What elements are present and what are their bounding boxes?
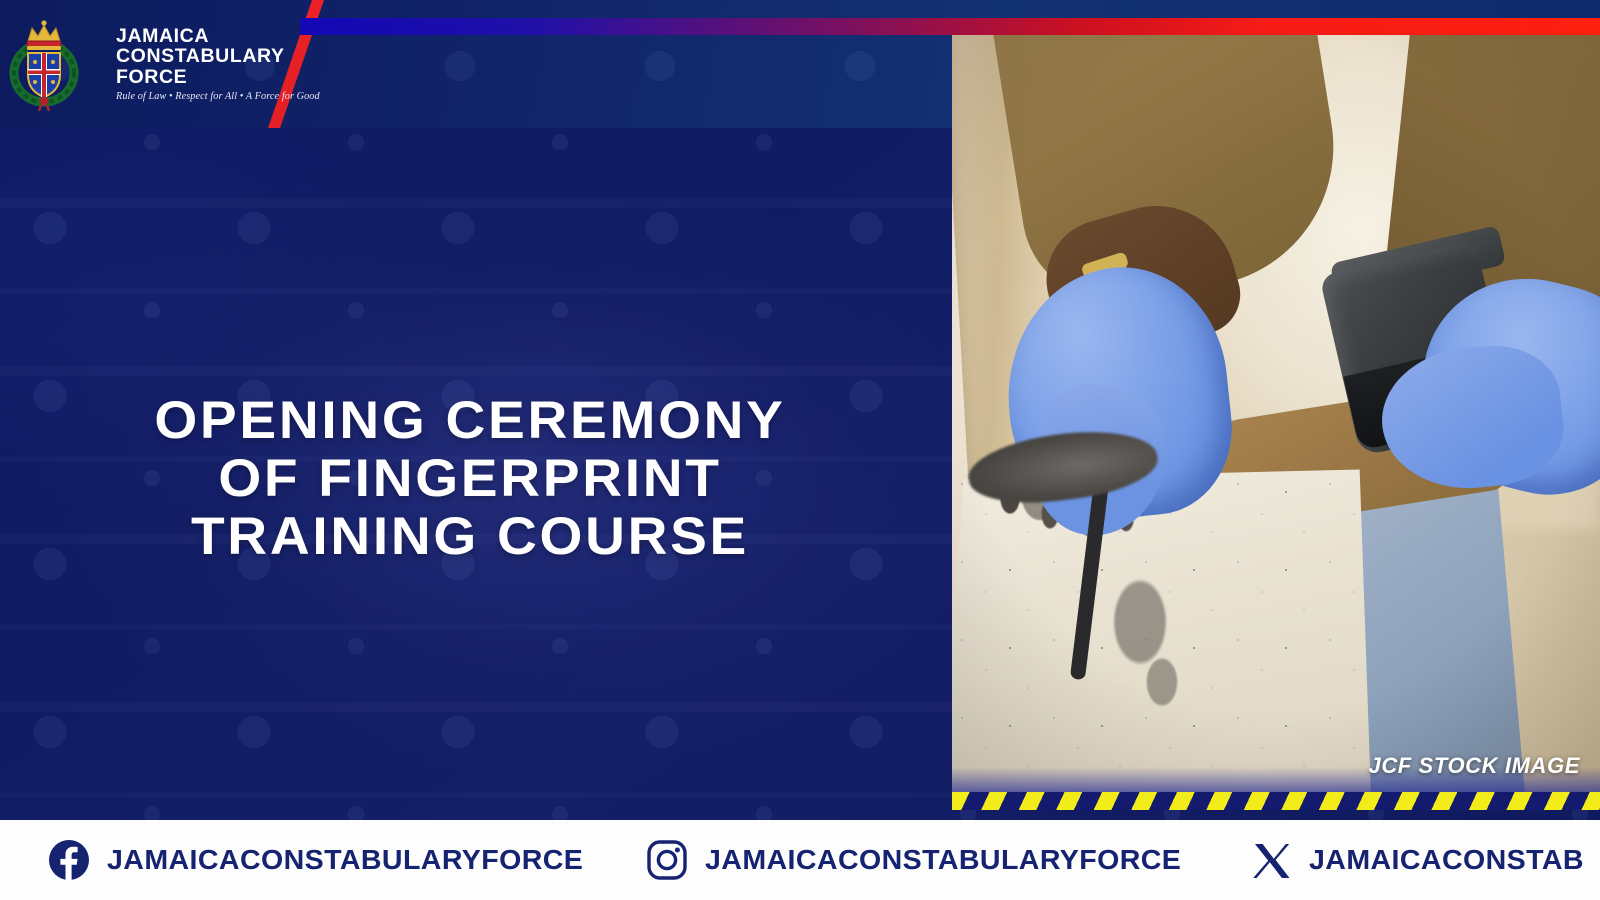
title-line-2: OF FINGERPRINT (0, 450, 959, 508)
logo-text-block: JAMAICA CONSTABULARY FORCE Rule of Law •… (106, 26, 320, 103)
social-footer: JAMAICACONSTABULARYFORCE JAMAICACONSTABU… (0, 820, 1600, 900)
top-gradient-rule (300, 18, 1600, 35)
facebook-handle[interactable]: JAMAICACONSTABULARYFORCE (107, 844, 583, 876)
org-name-line-3: FORCE (116, 67, 320, 88)
caution-tape-strip (952, 792, 1600, 810)
org-name-line-1: JAMAICA (116, 26, 320, 47)
page-title: OPENING CEREMONY OF FINGERPRINT TRAINING… (0, 392, 940, 566)
title-line-3: TRAINING COURSE (0, 508, 959, 566)
stock-image-label: JCF STOCK IMAGE (1368, 753, 1580, 779)
jcf-logo-lockup: JAMAICA CONSTABULARY FORCE Rule of Law •… (0, 0, 300, 128)
x-twitter-handle[interactable]: JAMAICACONSTAB (1309, 844, 1584, 876)
jcf-crest-icon (8, 17, 80, 111)
org-name-line-2: CONSTABULARY (116, 46, 320, 67)
slide-root: JAMAICA CONSTABULARY FORCE Rule of Law •… (0, 0, 1600, 900)
title-line-1: OPENING CEREMONY (0, 392, 959, 450)
x-twitter-icon[interactable] (1250, 839, 1292, 881)
social-x-twitter[interactable]: JAMAICACONSTAB (1250, 839, 1579, 881)
photo-vignette (952, 30, 1600, 793)
facebook-icon[interactable] (48, 839, 90, 881)
social-instagram[interactable]: JAMAICACONSTABULARYFORCE (646, 839, 1172, 881)
instagram-icon[interactable] (646, 839, 688, 881)
feature-photo: JCF STOCK IMAGE (952, 30, 1600, 793)
instagram-handle[interactable]: JAMAICACONSTABULARYFORCE (705, 844, 1181, 876)
social-facebook[interactable]: JAMAICACONSTABULARYFORCE (48, 839, 574, 881)
org-tagline: Rule of Law • Respect for All • A Force … (116, 91, 320, 102)
